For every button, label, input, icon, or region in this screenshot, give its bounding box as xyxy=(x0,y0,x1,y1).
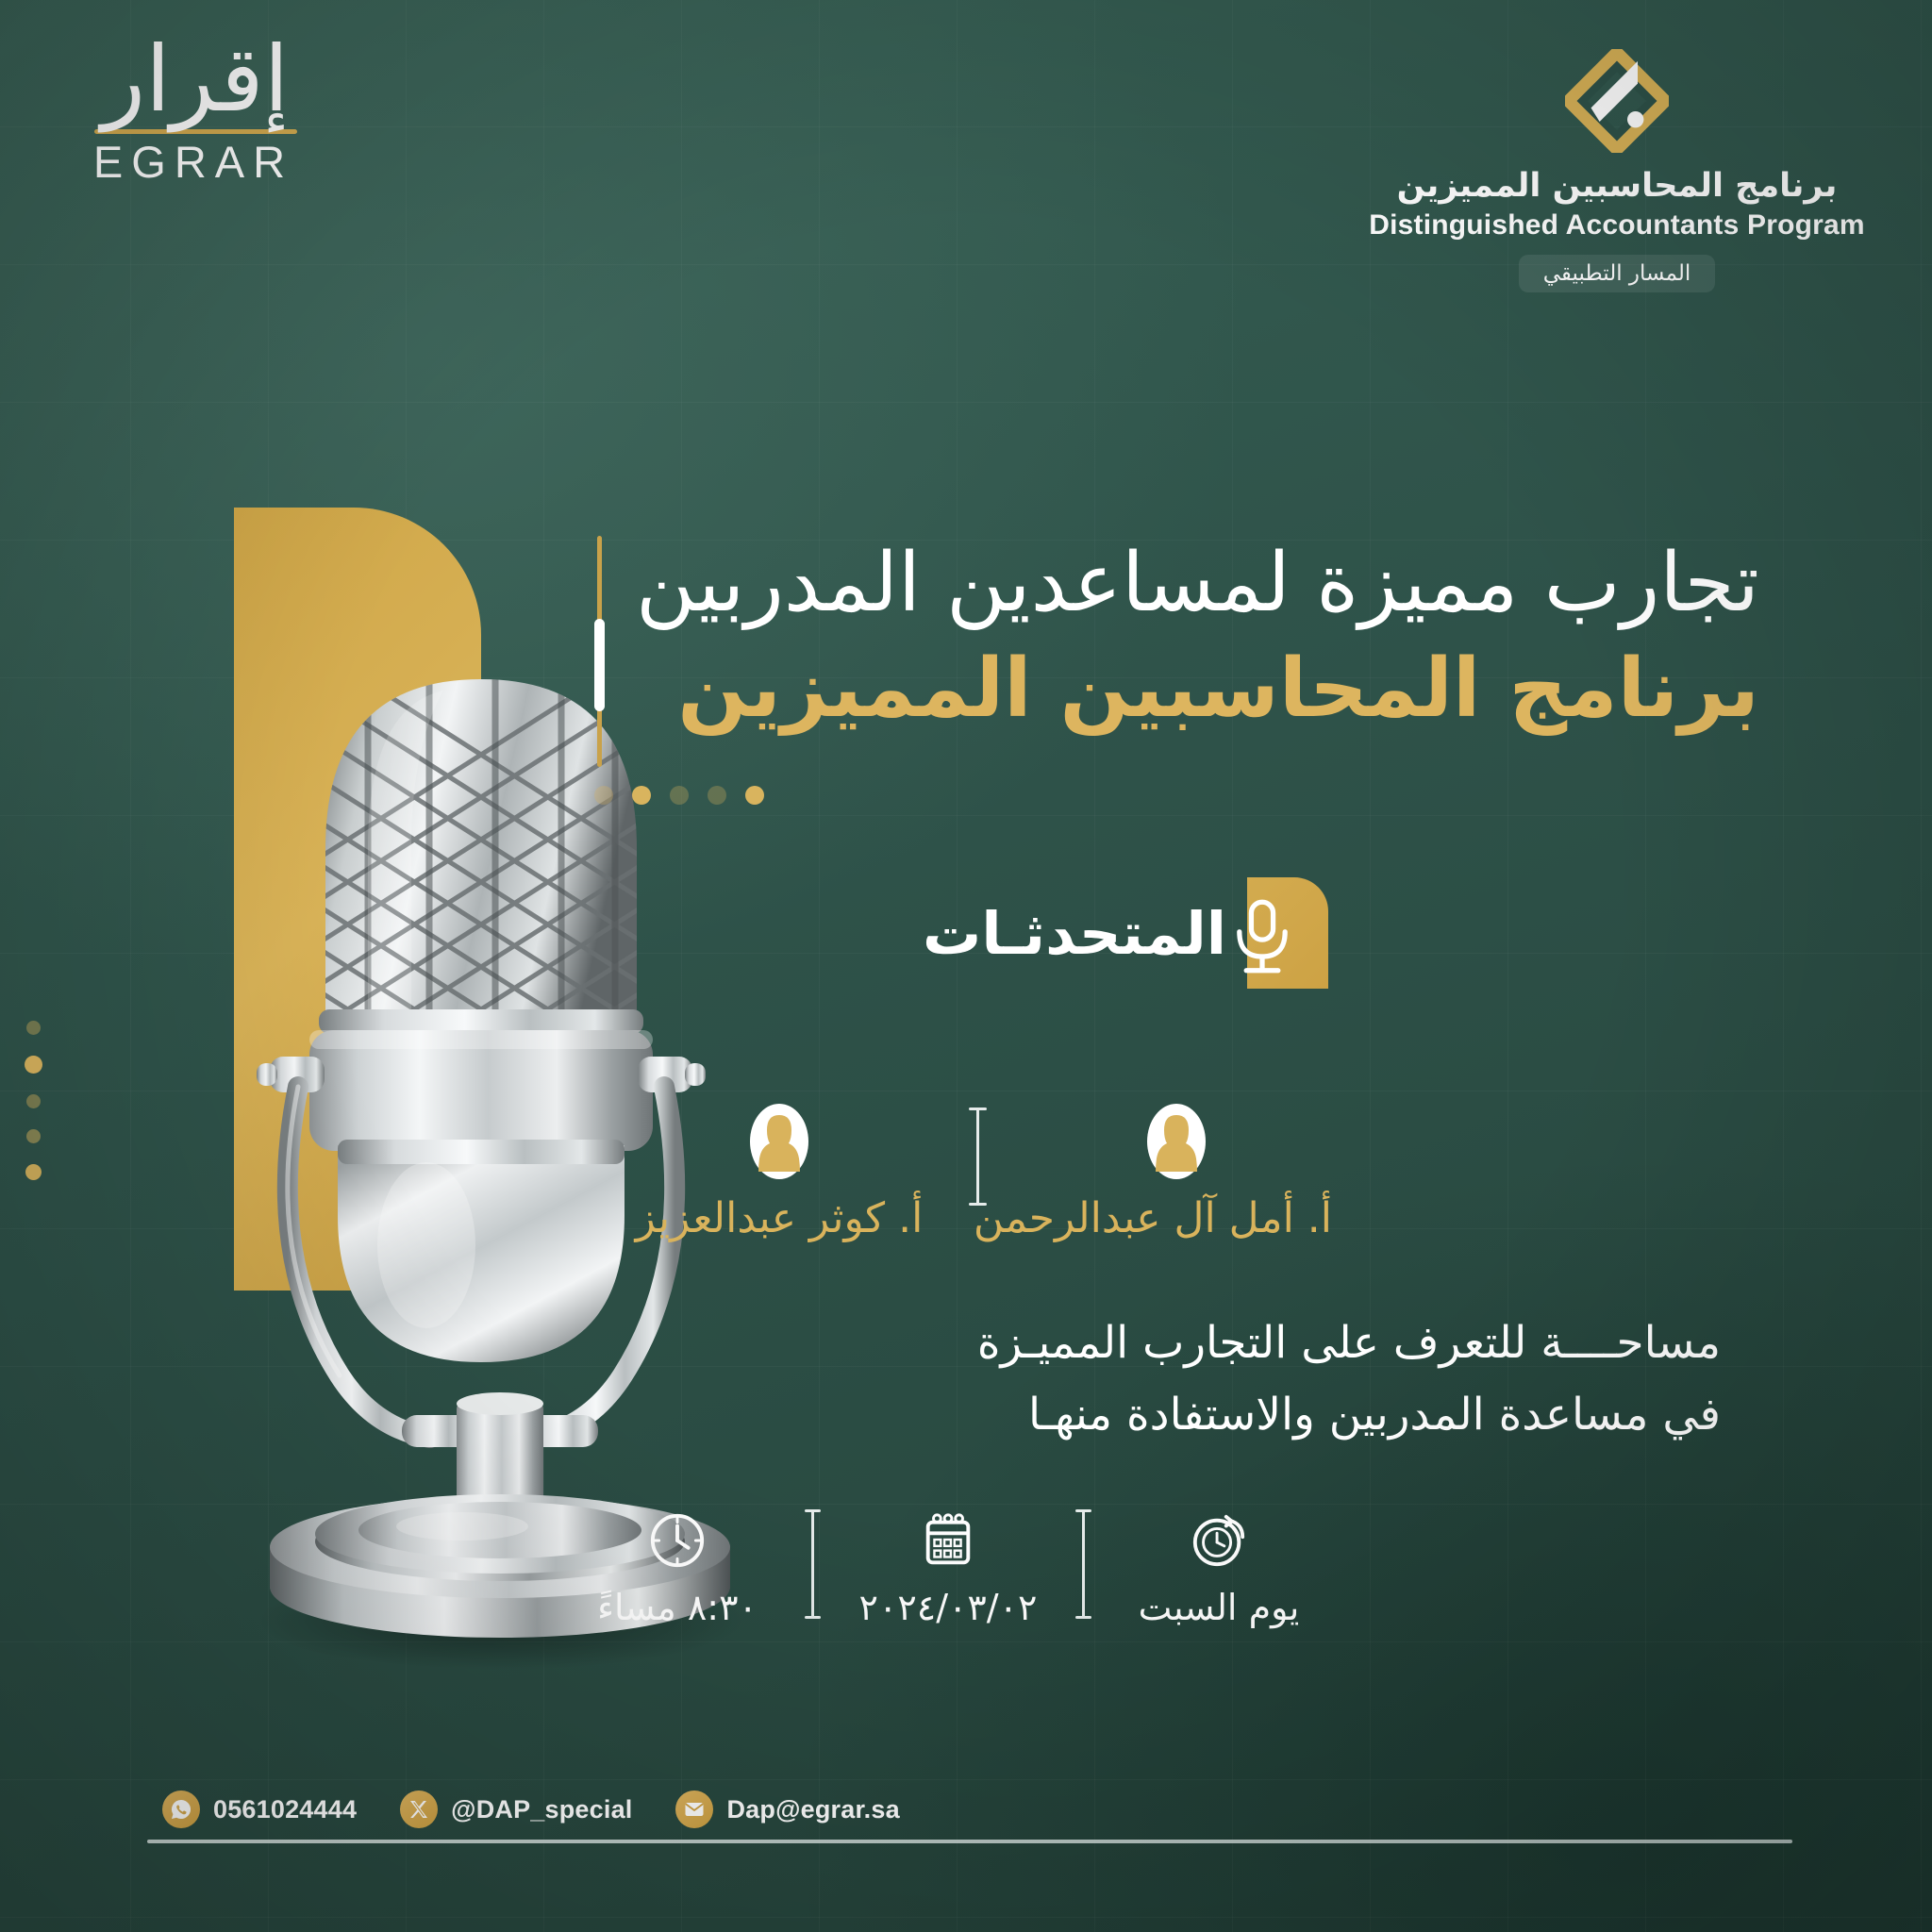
event-info-row: يوم السبت ٢٠٢٤/٠٣/٠٢ xyxy=(564,1506,1332,1628)
edge-dot xyxy=(26,1094,41,1108)
female-avatar-icon xyxy=(1147,1104,1206,1179)
contact-email[interactable]: Dap@egrar.sa xyxy=(675,1790,899,1828)
contact-phone[interactable]: 0561024444 xyxy=(162,1790,357,1828)
headline-dot xyxy=(745,786,764,805)
speakers-list: أ. أمل آل عبدالرحمن أ. كوثر عبدالعزيز xyxy=(624,1104,1332,1242)
dap-monogram-icon xyxy=(1565,49,1669,153)
event-info-day: يوم السبت xyxy=(1106,1506,1332,1628)
footer-contacts: 0561024444 @DAP_special Dap@egrar.sa xyxy=(162,1790,900,1828)
speakers-heading: المتحدثـات xyxy=(923,877,1328,989)
egrar-logo-latin: EGRAR xyxy=(58,136,332,188)
contact-x[interactable]: @DAP_special xyxy=(400,1790,632,1828)
event-info-time: ٨:٣٠ مساءً xyxy=(564,1506,791,1628)
headline-dot xyxy=(670,786,689,805)
footer-divider xyxy=(147,1840,1792,1843)
event-info-date: ٢٠٢٤/٠٣/٠٢ xyxy=(835,1506,1061,1628)
event-info-day-label: يوم السبت xyxy=(1106,1587,1332,1628)
contact-phone-value: 0561024444 xyxy=(213,1795,357,1824)
edge-dot xyxy=(25,1056,42,1074)
event-info-divider xyxy=(811,1509,814,1619)
event-info-date-label: ٢٠٢٤/٠٣/٠٢ xyxy=(835,1587,1061,1628)
headline-line-1: تجارب مميزة لمساعدين المدربين xyxy=(636,534,1759,633)
speaker-divider xyxy=(976,1108,979,1206)
headline-line-2: برنامج المحاسبين المميزين xyxy=(636,639,1759,740)
clock-icon xyxy=(648,1511,707,1570)
description-line-2: في مساعدة المدربين والاستفادة منهـا xyxy=(626,1379,1721,1451)
x-twitter-icon xyxy=(400,1790,438,1828)
event-info-time-label: ٨:٣٠ مساءً xyxy=(564,1587,791,1628)
poster-canvas: إقرار EGRAR برنامج المحاسبين المميزين Di… xyxy=(0,0,1932,1932)
egrar-logo-arabic: إقرار xyxy=(58,32,332,127)
speaker-card: أ. كوثر عبدالعزيز xyxy=(624,1104,935,1242)
headline-accent-rule xyxy=(594,536,604,767)
headline-dot xyxy=(632,786,651,805)
speakers-badge-shape xyxy=(1247,877,1328,989)
description-line-1: مساحــــة للتعرف على التجارب المميـزة xyxy=(626,1307,1721,1379)
speaker-name: أ. أمل آل عبدالرحمن xyxy=(1021,1194,1332,1242)
speaker-card: أ. أمل آل عبدالرحمن xyxy=(1021,1104,1332,1242)
female-avatar-icon xyxy=(750,1104,808,1179)
edge-dot xyxy=(26,1021,41,1035)
dap-name-english: Distinguished Accountants Program xyxy=(1343,209,1890,241)
email-icon xyxy=(675,1790,713,1828)
edge-dot xyxy=(26,1129,41,1143)
description-block: مساحــــة للتعرف على التجارب المميـزة في… xyxy=(626,1307,1721,1451)
headline-dot xyxy=(708,786,726,805)
contact-email-value: Dap@egrar.sa xyxy=(726,1795,899,1824)
headline-rule-white xyxy=(594,619,605,711)
calendar-icon xyxy=(919,1511,977,1570)
microphone-icon xyxy=(1226,898,1298,975)
speaker-name: أ. كوثر عبدالعزيز xyxy=(624,1194,935,1242)
dap-name-arabic: برنامج المحاسبين المميزين xyxy=(1343,166,1890,208)
left-edge-dot-decoration xyxy=(21,1021,45,1201)
whatsapp-icon xyxy=(162,1790,200,1828)
track-badge: المسار التطبيقي xyxy=(1519,255,1716,292)
speakers-heading-label: المتحدثـات xyxy=(923,899,1226,968)
edge-dot xyxy=(25,1164,42,1180)
day-clock-icon xyxy=(1190,1511,1248,1570)
distinguished-accountants-program-logo: برنامج المحاسبين المميزين Distinguished … xyxy=(1343,49,1890,292)
headline-dot-decoration xyxy=(594,786,1821,805)
headline-block: تجارب مميزة لمساعدين المدربين برنامج الم… xyxy=(594,530,1821,805)
contact-x-value: @DAP_special xyxy=(451,1795,632,1824)
event-info-divider xyxy=(1082,1509,1085,1619)
egrar-logo: إقرار EGRAR xyxy=(58,32,332,188)
headline-dot xyxy=(594,786,613,805)
